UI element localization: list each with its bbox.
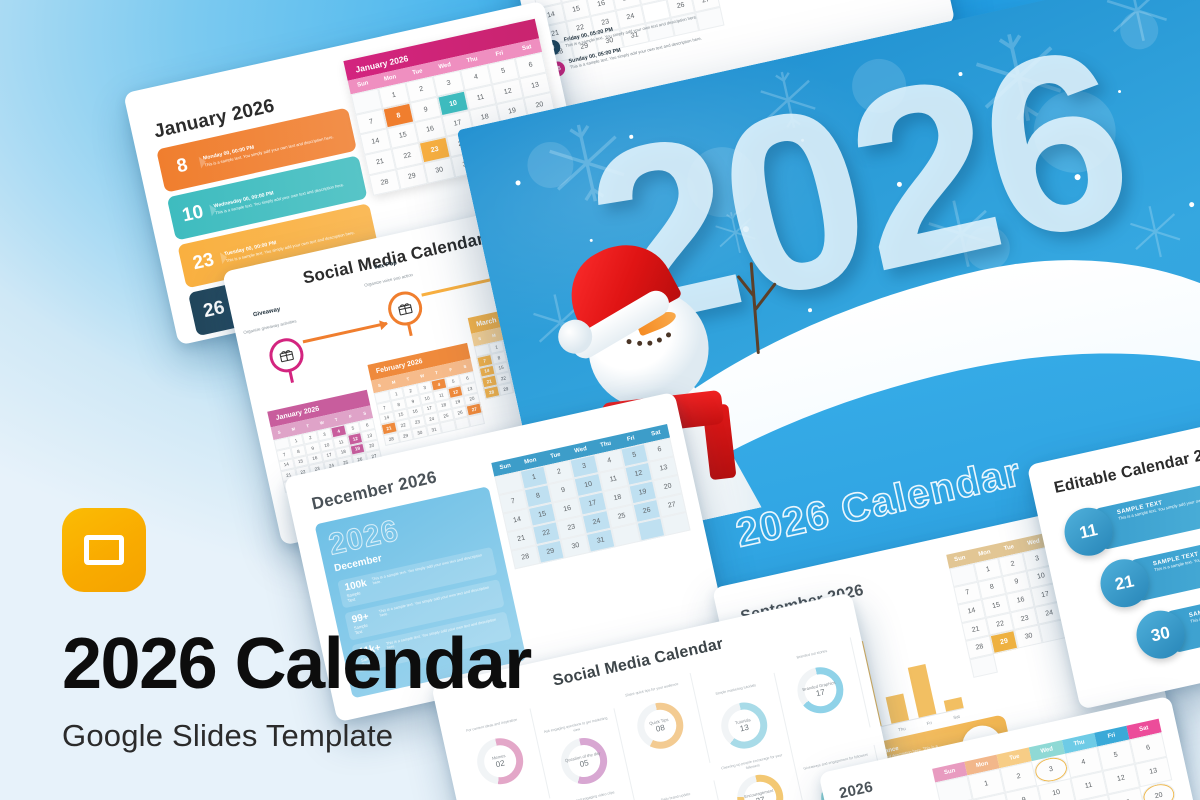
- donut-value: 02: [493, 758, 508, 770]
- calendar-day-30: 30: [1014, 625, 1043, 649]
- calendar-day-empty: [969, 654, 998, 678]
- calendar-day-31: 31: [586, 529, 615, 553]
- calendar-day-empty: [661, 512, 690, 536]
- calendar-day-empty: [611, 523, 640, 547]
- milestone-label: GiveawayOrganize giveaway activities: [226, 301, 311, 342]
- google-slides-icon: [62, 508, 146, 592]
- x-tick-sat: Sat: [947, 713, 966, 722]
- timeline-arrow-icon: [303, 322, 388, 344]
- calendar-day-30: 30: [423, 157, 455, 183]
- chat-icon[interactable]: [385, 288, 426, 329]
- donut-caption: Daily brand update: [640, 787, 714, 800]
- slide-sheet-shape: [84, 535, 124, 565]
- bar-sat: [944, 697, 964, 712]
- bar-fri: [908, 664, 937, 718]
- brand-block: 2026 Calendar Google Slides Template: [62, 508, 531, 754]
- poster-stage: January 2026 SunMonTueWedThuFriSat 12345…: [0, 0, 1200, 800]
- x-tick-thu: Thu: [893, 725, 912, 734]
- calendar-day-empty: [636, 518, 665, 542]
- donut-ring: Question of the day05: [556, 734, 611, 789]
- gift-icon[interactable]: [266, 335, 307, 376]
- slide-title: 2026: [838, 778, 875, 800]
- milestone-caption: Organize voice pop action: [364, 272, 414, 288]
- page-title: 2026 Calendar: [62, 628, 531, 700]
- event-heading: Monday 00, 00:00 PM: [203, 127, 333, 162]
- bar-thu: [886, 694, 909, 724]
- donut-ring: Quick Tips08: [632, 698, 687, 753]
- calendar-day-30: 30: [561, 534, 590, 558]
- calendar-day-empty: [468, 413, 485, 427]
- x-tick-fri: Fri: [920, 719, 939, 728]
- calendar-day-29: 29: [396, 163, 428, 189]
- donut-ring: Branded Graphics17: [792, 663, 847, 718]
- milestone-caption: Organize giveaway activities: [243, 318, 297, 335]
- calendar-day-29: 29: [536, 540, 565, 564]
- donut-ring: Encouragement27: [732, 770, 787, 800]
- calendar-day-29: 29: [990, 630, 1019, 654]
- donut-ring: Tutorials13: [716, 698, 771, 753]
- donut-value: 13: [736, 722, 753, 734]
- calendar-day-28: 28: [369, 169, 401, 195]
- page-subtitle: Google Slides Template: [62, 718, 531, 754]
- event-heading: Wednesday 00, 00:00 PM: [213, 175, 343, 210]
